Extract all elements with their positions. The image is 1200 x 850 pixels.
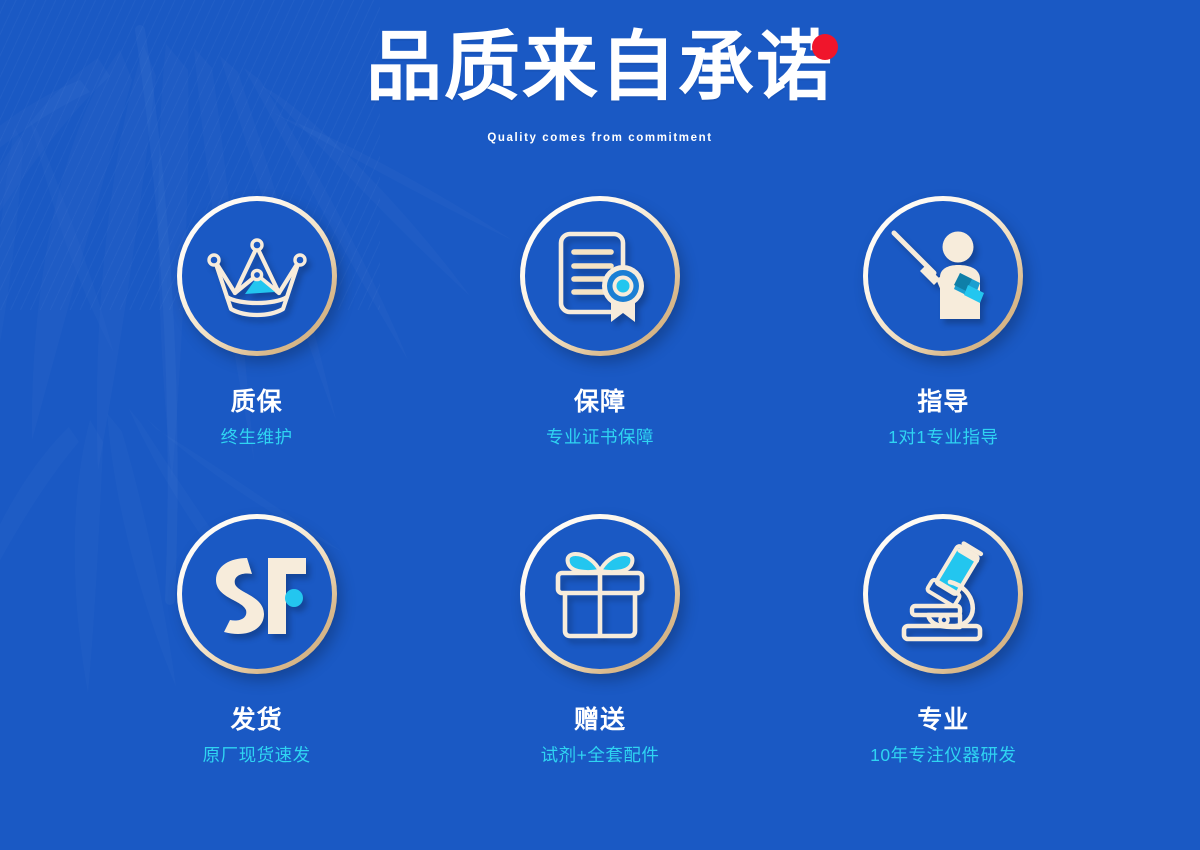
instructor-icon [888,227,998,325]
crown-icon [205,231,309,321]
microscope-icon [890,544,996,644]
page-subtitle: Quality comes from commitment [0,132,1200,144]
icon-ring [177,514,337,674]
feature-sublabel: 试剂+全套配件 [541,747,660,765]
certificate-icon [549,226,651,326]
sf-express-logo-icon [202,546,312,642]
icon-ring [520,514,680,674]
feature-label: 质保 [231,390,283,415]
feature-label: 专业 [917,708,969,733]
icon-ring [520,196,680,356]
feature-card-expertise[interactable]: 专业 10年专注仪器研发 [772,514,1115,832]
feature-card-quality-assurance[interactable]: 质保 终生维护 [85,196,428,514]
feature-label: 指导 [917,390,969,415]
icon-ring [177,196,337,356]
feature-sublabel: 终生维护 [221,429,293,447]
page-title: 品质来自承诺 [366,28,834,108]
feature-card-shipping[interactable]: 发货 原厂现货速发 [85,514,428,832]
red-dot-icon [812,34,838,60]
feature-sublabel: 原厂现货速发 [203,747,311,765]
feature-card-gift[interactable]: 赠送 试剂+全套配件 [428,514,771,832]
page-title-wrap: 品质来自承诺 [366,28,834,108]
icon-ring [863,196,1023,356]
feature-card-guidance[interactable]: 指导 1对1专业指导 [772,196,1115,514]
feature-sublabel: 10年专注仪器研发 [870,747,1016,765]
feature-card-warranty[interactable]: 保障 专业证书保障 [428,196,771,514]
gift-box-icon [548,547,652,641]
feature-sublabel: 1对1专业指导 [888,429,998,447]
feature-grid: 质保 终生维护 保障 专业证书保障 [85,196,1115,832]
feature-sublabel: 专业证书保障 [546,429,654,447]
icon-ring [863,514,1023,674]
header: 品质来自承诺 Quality comes from commitment [0,28,1200,144]
feature-label: 保障 [574,390,626,415]
feature-label: 赠送 [574,708,626,733]
feature-label: 发货 [231,708,283,733]
